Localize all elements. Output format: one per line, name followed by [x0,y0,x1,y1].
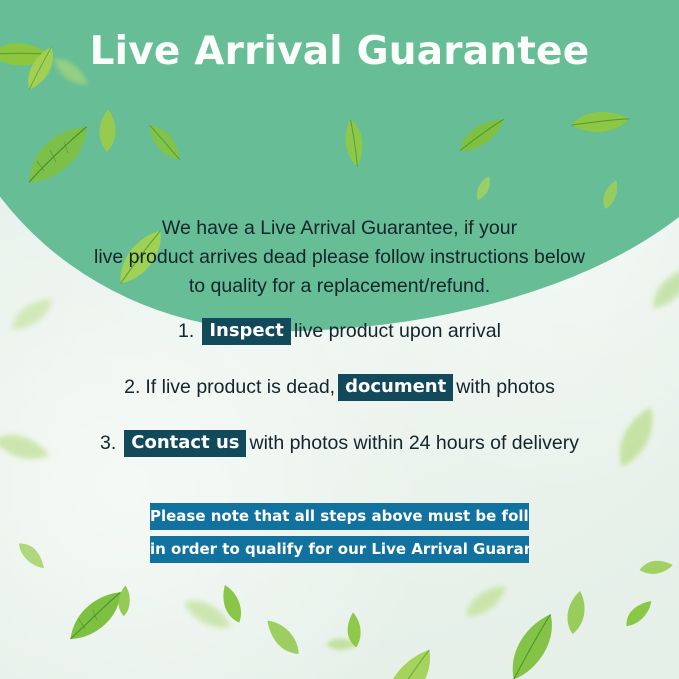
leaf-icon [554,588,599,637]
leaf-icon [366,647,449,679]
step-highlight-contact-us[interactable]: Contact us [124,430,246,457]
step-highlight-document: document [338,374,453,401]
step-item-1: 1.Inspectlive product upon arrival [0,318,679,345]
step-number: 2. [124,376,140,398]
intro-line-2: live product arrives dead please follow … [50,243,629,272]
steps-list: 1.Inspectlive product upon arrival 2.If … [0,318,679,486]
step-number: 3. [100,432,116,454]
leaf-icon [324,630,359,659]
callout-line-2: in order to qualify for our Live Arrival… [150,536,529,563]
leaf-icon [642,265,679,314]
page-title: Live Arrival Guarantee [0,29,679,74]
intro-line-3: to quality for a replacement/refund. [50,272,629,301]
step-text-after: with photos within 24 hours of delivery [249,432,579,454]
leaf-icon [264,612,303,662]
intro-line-1: We have a Live Arrival Guarantee, if you… [50,214,629,243]
leaf-icon [60,589,133,645]
step-item-2: 2.If live product is dead,documentwith p… [0,374,679,401]
leaf-icon [340,611,370,650]
leaf-icon [16,537,46,576]
leaf-icon [459,583,512,622]
step-text-after: with photos [456,376,555,398]
leaf-icon [493,611,573,679]
intro-paragraph: We have a Live Arrival Guarantee, if you… [50,214,629,301]
live-arrival-guarantee-poster: Live Arrival Guarantee [0,0,679,679]
step-number: 1. [178,320,194,342]
step-text-after: live product upon arrival [294,320,501,342]
step-text-before: If live product is dead, [145,376,335,398]
callout-line-1: Please note that all steps above must be… [150,503,529,530]
leaf-icon [110,584,140,619]
leaf-icon [219,584,247,624]
leaf-icon [180,586,234,644]
leaf-icon [638,554,675,583]
callout-note: Please note that all steps above must be… [150,503,529,563]
step-highlight-inspect: Inspect [202,318,291,345]
step-item-3: 3.Contact uswith photos within 24 hours … [0,430,679,457]
leaf-icon [620,599,659,629]
